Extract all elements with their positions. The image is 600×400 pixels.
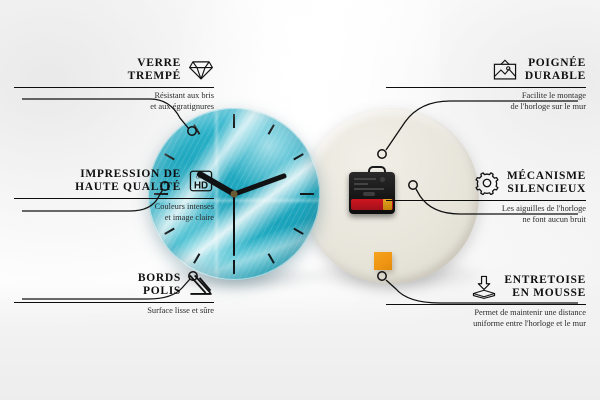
diamond-icon: [188, 58, 214, 82]
callout-desc-1: Couleurs intenses: [14, 202, 214, 213]
callout-desc-1: Surface lisse et sûre: [14, 306, 214, 317]
leader-dot-1: [188, 127, 196, 135]
ultra-hd-icon: ultra HD: [188, 169, 214, 193]
callout-desc-1: Résistant aux bris: [14, 91, 214, 102]
callout-desc-2: et aux égratignures: [14, 102, 214, 113]
callout-desc-2: et image claire: [14, 213, 214, 224]
callout-bords-polis[interactable]: BORDS POLIS Surface lisse et sûre: [14, 272, 214, 317]
callout-title: ENTRETOISE EN MOUSSE: [504, 274, 586, 300]
callout-header: BORDS POLIS: [14, 272, 214, 298]
callout-title: MÉCANISME SILENCIEUX: [507, 170, 586, 196]
callout-header: MÉCANISME SILENCIEUX: [386, 170, 586, 196]
callout-rule: [14, 198, 214, 199]
callout-rule: [386, 200, 586, 201]
leader-dot-6: [378, 272, 386, 280]
callout-header: POIGNÉE DURABLE: [386, 57, 586, 83]
callout-desc-1: Facilite le montage: [386, 91, 586, 102]
callout-impression-haute-qualite[interactable]: IMPRESSION DE HAUTE QUALITÉ ultra HD Cou…: [14, 168, 214, 223]
svg-text:HD: HD: [194, 180, 208, 191]
callout-header: ENTRETOISE EN MOUSSE: [386, 274, 586, 300]
callout-header: IMPRESSION DE HAUTE QUALITÉ ultra HD: [14, 168, 214, 194]
callout-desc-2: de l'horloge sur le mur: [386, 102, 586, 113]
callout-rule: [386, 304, 586, 305]
callout-title: BORDS POLIS: [138, 272, 181, 298]
callout-title: POIGNÉE DURABLE: [525, 57, 586, 83]
callout-rule: [386, 87, 586, 88]
callout-title: IMPRESSION DE HAUTE QUALITÉ: [75, 168, 181, 194]
callout-header: VERRE TREMPÉ: [14, 57, 214, 83]
callout-desc-2: ne font aucun bruit: [386, 215, 586, 226]
callout-verre-trempe[interactable]: VERRE TREMPÉ Résistant aux bris et aux é…: [14, 57, 214, 112]
foam-spacer-icon: [471, 275, 497, 299]
callout-poignee-durable[interactable]: POIGNÉE DURABLE Facilite le montage de l…: [386, 57, 586, 112]
leader-dot-4: [378, 150, 386, 158]
callout-desc-2: uniforme entre l'horloge et le mur: [386, 319, 586, 330]
callout-desc-1: Permet de maintenir une distance: [386, 308, 586, 319]
polished-edges-icon: [188, 273, 214, 297]
callout-entretoise-en-mousse[interactable]: ENTRETOISE EN MOUSSE Permet de maintenir…: [386, 274, 586, 329]
wall-hanger-icon: [492, 58, 518, 82]
callout-desc-1: Les aiguilles de l'horloge: [386, 204, 586, 215]
callout-mecanisme-silencieux[interactable]: MÉCANISME SILENCIEUX Les aiguilles de l'…: [386, 170, 586, 225]
callout-rule: [14, 87, 214, 88]
callout-rule: [14, 302, 214, 303]
callout-title: VERRE TREMPÉ: [128, 57, 181, 83]
gear-icon: [474, 171, 500, 195]
infographic-canvas: VERRE TREMPÉ Résistant aux bris et aux é…: [0, 0, 600, 400]
